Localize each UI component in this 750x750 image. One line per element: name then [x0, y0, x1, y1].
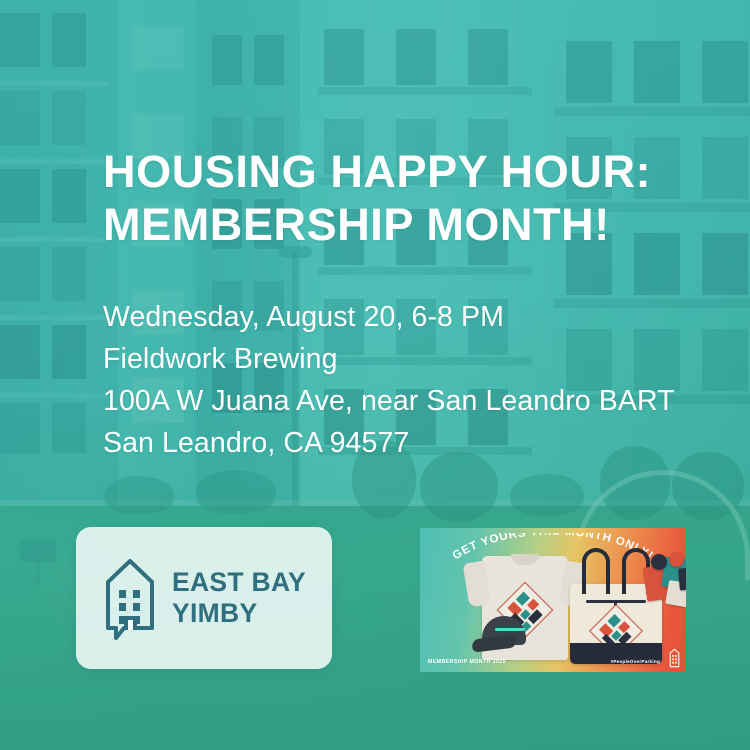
organization-logo-card: EAST BAY YIMBY: [76, 527, 332, 669]
merch-footer-right: #PeopleOverParking: [611, 659, 660, 664]
product-sticker-pack: [645, 552, 686, 610]
cap-embroidery: [495, 628, 525, 631]
product-cap: [476, 616, 532, 650]
logo-line-1: EAST BAY: [172, 567, 306, 598]
event-address: 100A W Juana Ave, near San Leandro BART: [103, 380, 703, 422]
event-city: San Leandro, CA 94577: [103, 422, 703, 464]
house-speech-bubble-icon: [102, 556, 158, 640]
event-datetime: Wednesday, August 20, 6-8 PM: [103, 296, 703, 338]
merch-promo-card: GET YOURS THIS MONTH ONLY!: [420, 528, 686, 672]
tshirt-sleeve-left: [463, 561, 492, 608]
page-title: HOUSING HAPPY HOUR: MEMBERSHIP MONTH!: [103, 146, 683, 251]
organization-name: EAST BAY YIMBY: [172, 567, 306, 629]
headline-line-1: HOUSING HAPPY HOUR:: [103, 146, 683, 199]
merch-footer-left: MEMBERSHIP MONTH 2025: [428, 659, 506, 665]
event-details: Wednesday, August 20, 6-8 PM Fieldwork B…: [103, 296, 703, 464]
logo-line-2: YIMBY: [172, 598, 306, 629]
tote-handle-left: [582, 548, 610, 594]
event-venue: Fieldwork Brewing: [103, 338, 703, 380]
building-badge-icon: [669, 648, 680, 668]
tote-zipper: [586, 600, 646, 603]
headline-line-2: MEMBERSHIP MONTH!: [103, 199, 683, 252]
cap-brim: [471, 634, 516, 652]
